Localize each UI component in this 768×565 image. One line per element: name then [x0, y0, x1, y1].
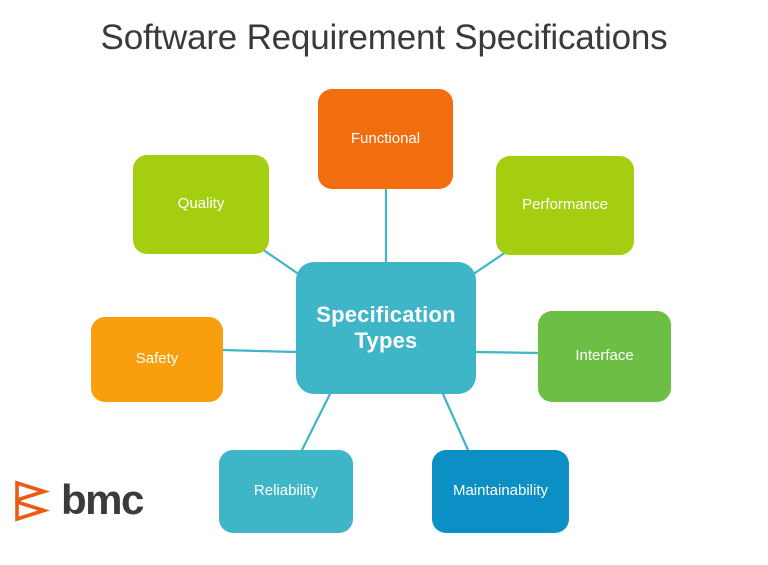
- bmc-chevron-icon: [14, 480, 52, 522]
- node-reliability[interactable]: Reliability: [219, 450, 353, 533]
- node-interface[interactable]: Interface: [538, 311, 671, 402]
- bmc-wordmark: bmc: [61, 479, 143, 524]
- center-node-label: Specification Types: [316, 302, 456, 354]
- connector-center-interface: [476, 352, 540, 353]
- node-maintainability[interactable]: Maintainability: [432, 450, 569, 533]
- slide-canvas: Software Requirement Specifications Spec…: [0, 0, 768, 565]
- node-performance-label: Performance: [522, 196, 608, 215]
- connector-center-maintainability: [443, 394, 468, 450]
- node-quality-label: Quality: [178, 195, 225, 214]
- center-node-label-line1: Specification: [316, 302, 456, 327]
- node-performance[interactable]: Performance: [496, 156, 634, 255]
- node-safety[interactable]: Safety: [91, 317, 223, 402]
- node-functional-label: Functional: [351, 130, 420, 149]
- connector-center-quality: [262, 249, 300, 275]
- node-functional[interactable]: Functional: [318, 89, 453, 189]
- connector-center-reliability: [302, 394, 330, 450]
- connector-center-safety: [223, 350, 296, 352]
- bmc-logo[interactable]: bmc: [14, 473, 164, 529]
- center-node-specification-types[interactable]: Specification Types: [296, 262, 476, 394]
- node-reliability-label: Reliability: [254, 482, 318, 501]
- center-node-label-line2: Types: [355, 328, 418, 353]
- node-quality[interactable]: Quality: [133, 155, 269, 254]
- node-interface-label: Interface: [575, 347, 633, 366]
- node-safety-label: Safety: [136, 350, 179, 369]
- node-maintainability-label: Maintainability: [453, 482, 548, 501]
- connector-center-performance: [472, 252, 506, 275]
